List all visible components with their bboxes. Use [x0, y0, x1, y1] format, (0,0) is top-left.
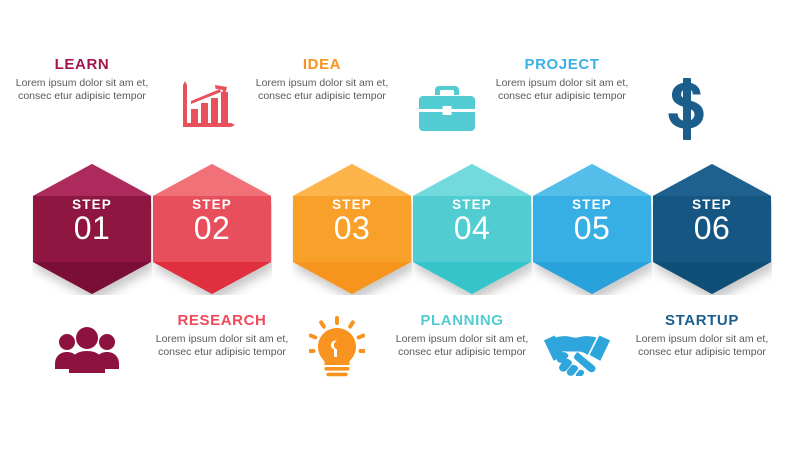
title-step-04: PLANNING [392, 312, 532, 329]
icon-box-step-06-top [652, 74, 722, 144]
handshake-icon [542, 330, 612, 376]
body-step-03: Lorem ipsum dolor sit am et, consec etur… [252, 77, 392, 102]
hexagon-shape-03[interactable] [292, 163, 412, 295]
lightbulb-icon [309, 316, 365, 378]
title-step-06: STARTUP [632, 312, 772, 329]
body-step-06: Lorem ipsum dolor sit am et, consec etur… [632, 333, 772, 358]
title-step-01: LEARN [12, 56, 152, 73]
icon-box-step-03-bottom [302, 312, 372, 382]
hexagon-shape-06[interactable] [652, 163, 772, 295]
icon-box-step-02-top [172, 74, 242, 144]
text-block-step-03: IDEA Lorem ipsum dolor sit am et, consec… [252, 56, 392, 102]
body-step-05: Lorem ipsum dolor sit am et, consec etur… [492, 77, 632, 102]
body-step-04: Lorem ipsum dolor sit am et, consec etur… [392, 333, 532, 358]
icon-box-step-04-top [412, 74, 482, 144]
hexagon-shape-05[interactable] [532, 163, 652, 295]
hexagon-step-04[interactable]: STEP 04 [412, 163, 532, 295]
text-block-step-04: PLANNING Lorem ipsum dolor sit am et, co… [392, 312, 532, 358]
body-step-02: Lorem ipsum dolor sit am et, consec etur… [152, 333, 292, 358]
hexagon-step-05[interactable]: STEP 05 [532, 163, 652, 295]
icon-box-step-05-bottom [542, 318, 612, 388]
hexagon-shape-04[interactable] [412, 163, 532, 295]
title-step-05: PROJECT [492, 56, 632, 73]
text-block-step-02: RESEARCH Lorem ipsum dolor sit am et, co… [152, 312, 292, 358]
hexagon-step-02[interactable]: STEP 02 [152, 163, 272, 295]
hexagon-shape-02[interactable] [152, 163, 272, 295]
briefcase-icon [418, 83, 476, 135]
icon-box-step-01-bottom [52, 315, 122, 385]
bar-chart-growth-icon [177, 81, 237, 137]
hexagon-step-03[interactable]: STEP 03 [292, 163, 412, 295]
text-block-step-01: LEARN Lorem ipsum dolor sit am et, conse… [12, 56, 152, 102]
hexagon-shape-01[interactable] [32, 163, 152, 295]
text-block-step-06: STARTUP Lorem ipsum dolor sit am et, con… [632, 312, 772, 358]
users-icon [55, 326, 119, 374]
title-step-02: RESEARCH [152, 312, 292, 329]
hexagon-step-01[interactable]: STEP 01 [32, 163, 152, 295]
text-block-step-05: PROJECT Lorem ipsum dolor sit am et, con… [492, 56, 632, 102]
body-step-01: Lorem ipsum dolor sit am et, consec etur… [12, 77, 152, 102]
dollar-sign-icon [665, 78, 709, 140]
infographic-canvas: LEARN Lorem ipsum dolor sit am et, conse… [0, 0, 800, 450]
hexagon-step-06[interactable]: STEP 06 [652, 163, 772, 295]
title-step-03: IDEA [252, 56, 392, 73]
